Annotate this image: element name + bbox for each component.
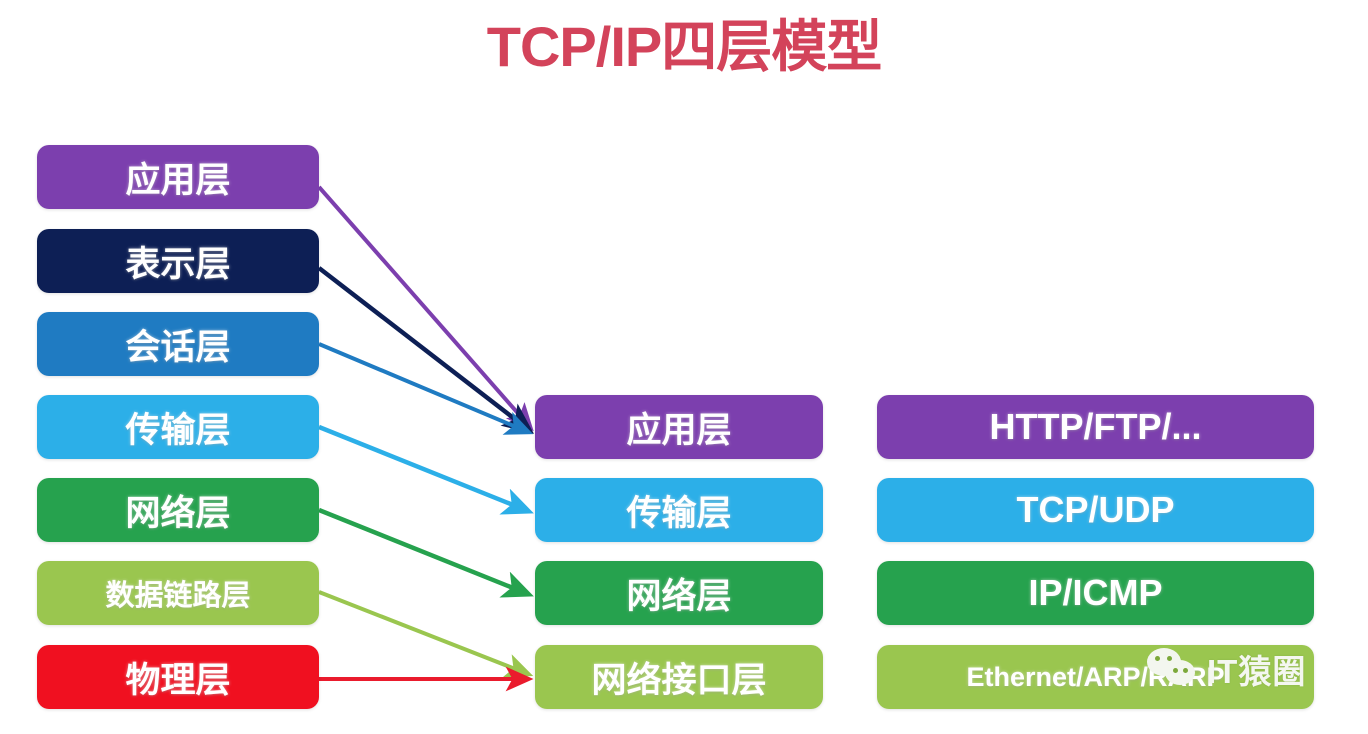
osi-layer-session-label: 会话层 bbox=[125, 319, 230, 370]
arrow-session-to-application bbox=[319, 344, 528, 432]
osi-layer-transport[interactable]: 传输层 bbox=[37, 395, 319, 459]
osi-layer-transport-label: 传输层 bbox=[125, 402, 230, 453]
tcpip-layer-network-interface-label: 网络接口层 bbox=[591, 652, 766, 703]
tcpip-layer-network[interactable]: 网络层 bbox=[535, 561, 823, 625]
tcpip-layer-network-interface[interactable]: 网络接口层 bbox=[535, 645, 823, 709]
protocol-transport-label: TCP/UDP bbox=[1016, 489, 1174, 531]
arrow-datalink-to-netinterface bbox=[319, 592, 528, 674]
tcpip-layer-transport-label: 传输层 bbox=[626, 485, 731, 536]
osi-layer-presentation[interactable]: 表示层 bbox=[37, 229, 319, 293]
osi-layer-presentation-label: 表示层 bbox=[125, 236, 230, 287]
osi-layer-application-label: 应用层 bbox=[125, 152, 230, 203]
osi-layer-physical-label: 物理层 bbox=[125, 652, 230, 703]
protocol-network-label: IP/ICMP bbox=[1028, 572, 1162, 614]
tcpip-layer-application[interactable]: 应用层 bbox=[535, 395, 823, 459]
diagram-canvas: TCP/IP四层模型 bbox=[0, 0, 1368, 734]
arrow-presentation-to-application bbox=[319, 268, 529, 430]
protocol-network-interface[interactable]: Ethernet/ARP/RARP bbox=[877, 645, 1314, 709]
osi-layer-datalink-label: 数据链路层 bbox=[105, 572, 250, 614]
osi-layer-network-label: 网络层 bbox=[125, 485, 230, 536]
arrow-transport-to-transport bbox=[319, 427, 528, 511]
arrow-application-to-application bbox=[319, 187, 530, 427]
tcpip-layer-network-label: 网络层 bbox=[626, 568, 731, 619]
protocol-application-label: HTTP/FTP/... bbox=[990, 406, 1202, 448]
osi-layer-session[interactable]: 会话层 bbox=[37, 312, 319, 376]
tcpip-layer-application-label: 应用层 bbox=[626, 402, 731, 453]
protocol-application[interactable]: HTTP/FTP/... bbox=[877, 395, 1314, 459]
osi-layer-application[interactable]: 应用层 bbox=[37, 145, 319, 209]
protocol-network-interface-label: Ethernet/ARP/RARP bbox=[966, 662, 1224, 693]
page-title: TCP/IP四层模型 bbox=[0, 2, 1368, 83]
protocol-network[interactable]: IP/ICMP bbox=[877, 561, 1314, 625]
osi-layer-datalink[interactable]: 数据链路层 bbox=[37, 561, 319, 625]
osi-layer-network[interactable]: 网络层 bbox=[37, 478, 319, 542]
osi-layer-physical[interactable]: 物理层 bbox=[37, 645, 319, 709]
arrow-network-to-network bbox=[319, 510, 528, 594]
tcpip-layer-transport[interactable]: 传输层 bbox=[535, 478, 823, 542]
protocol-transport[interactable]: TCP/UDP bbox=[877, 478, 1314, 542]
